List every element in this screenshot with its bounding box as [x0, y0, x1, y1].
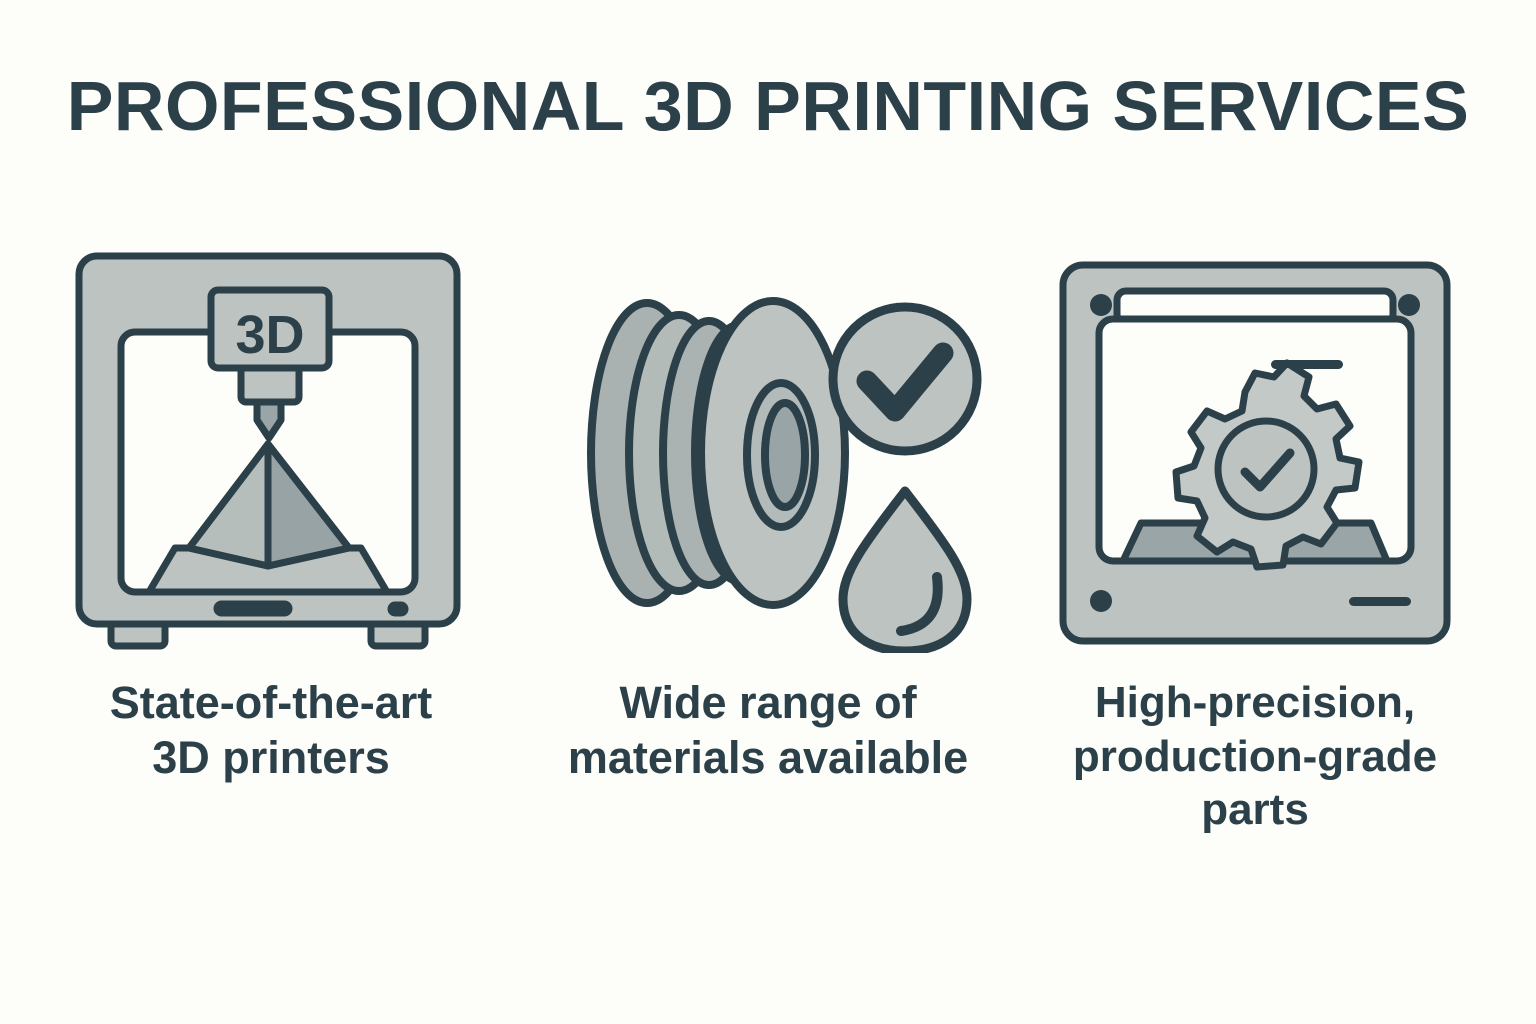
feature-caption-2: Wide range of materials available — [533, 676, 1003, 786]
spool-hub — [765, 403, 805, 507]
caption-line: State-of-the-art — [36, 676, 506, 731]
infographic-poster: PROFESSIONAL 3D PRINTING SERVICES — [0, 0, 1536, 1024]
3d-printer-icon: 3D — [36, 248, 506, 658]
caption-line: Wide range of — [533, 676, 1003, 731]
caption-line: 3D printers — [36, 731, 506, 786]
screw-icon — [1090, 294, 1112, 316]
check-circle-icon — [833, 307, 977, 451]
feature-column-1: 3D State-of-the-art 3D printers — [36, 248, 506, 908]
precision-printer-gear-check-icon — [1020, 248, 1490, 658]
screw-icon — [1090, 590, 1112, 612]
feature-columns: 3D State-of-the-art 3D printers — [0, 248, 1536, 908]
caption-line: materials available — [533, 731, 1003, 786]
page-title: PROFESSIONAL 3D PRINTING SERVICES — [0, 66, 1536, 146]
feature-caption-3: High-precision, production-grade parts — [1020, 676, 1490, 837]
caption-line: High-precision, — [1020, 676, 1490, 730]
screw-icon — [1398, 294, 1420, 316]
feature-column-2: Wide range of materials available — [533, 248, 1003, 908]
feature-caption-1: State-of-the-art 3D printers — [36, 676, 506, 786]
caption-line: production-grade — [1020, 730, 1490, 784]
feature-column-3: High-precision, production-grade parts — [1020, 248, 1490, 908]
filament-spool-check-droplet-icon — [533, 248, 1003, 658]
droplet-icon — [843, 491, 967, 651]
caption-line: parts — [1020, 783, 1490, 837]
printer-head-label: 3D — [235, 305, 304, 365]
